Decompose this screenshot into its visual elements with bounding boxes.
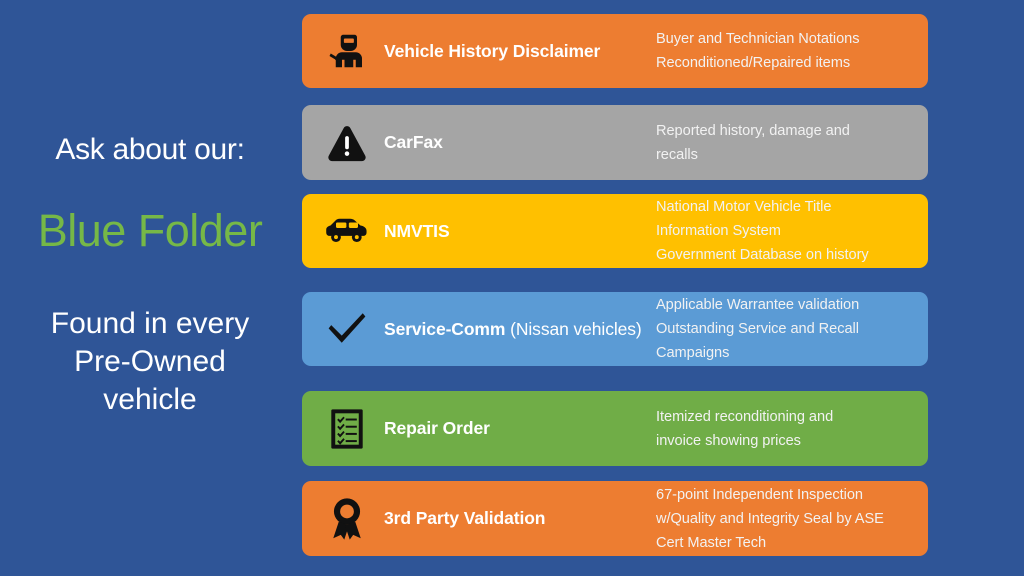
bar-description-line: Reported history, damage and — [656, 119, 928, 143]
document-checklist: Vehicle History DisclaimerBuyer and Tech… — [302, 0, 928, 576]
bar-title-carfax: CarFax — [384, 132, 656, 152]
bar-description-line: 67-point Independent Inspection — [656, 483, 928, 507]
bar-title-repair-order: Repair Order — [384, 418, 656, 438]
checkmark-icon — [326, 311, 368, 347]
warning-triangle-icon — [327, 124, 367, 162]
bar-description-line: Outstanding Service and Recall — [656, 317, 928, 341]
bar-description-line: Applicable Warrantee validation — [656, 293, 928, 317]
warning-triangle-icon — [302, 105, 384, 180]
bar-description-line: invoice showing prices — [656, 429, 928, 453]
bar-description-line: Campaigns — [656, 341, 928, 365]
bar-description-line: recalls — [656, 143, 928, 167]
welder-icon — [327, 31, 367, 71]
bar-title-main: Vehicle History Disclaimer — [384, 41, 600, 61]
bar-description-line: Government Database on history — [656, 243, 928, 267]
subtext-line-1: Found in every — [0, 305, 300, 343]
bar-title-main: CarFax — [384, 132, 443, 152]
bar-description-third-party-validation: 67-point Independent Inspectionw/Quality… — [656, 483, 928, 555]
subtext-line-3: vehicle — [0, 381, 300, 419]
bar-title-service-comm: Service-Comm (Nissan vehicles) — [384, 319, 656, 339]
bar-title-main: Repair Order — [384, 418, 490, 438]
bar-description-line: Reconditioned/Repaired items — [656, 51, 928, 75]
bar-description-line: Information System — [656, 219, 928, 243]
bar-row-service-comm[interactable]: Service-Comm (Nissan vehicles)Applicable… — [302, 292, 928, 366]
bar-description-service-comm: Applicable Warrantee validationOutstandi… — [656, 293, 928, 365]
bar-description-line: National Motor Vehicle Title — [656, 195, 928, 219]
checkmark-icon — [302, 292, 384, 366]
blue-folder-headline: Blue Folder — [0, 205, 300, 257]
award-ribbon-icon — [329, 497, 365, 541]
bar-description-repair-order: Itemized reconditioning andinvoice showi… — [656, 405, 928, 453]
bar-row-third-party-validation[interactable]: 3rd Party Validation67-point Independent… — [302, 481, 928, 556]
bar-row-vehicle-history-disclaimer[interactable]: Vehicle History DisclaimerBuyer and Tech… — [302, 14, 928, 88]
bar-title-nmvtis: NMVTIS — [384, 221, 656, 241]
welder-icon — [302, 14, 384, 88]
bar-description-vehicle-history-disclaimer: Buyer and Technician NotationsReconditio… — [656, 27, 928, 75]
checklist-clipboard-icon — [302, 391, 384, 466]
found-in-every-subtext: Found in every Pre-Owned vehicle — [0, 305, 300, 419]
bar-description-line: Itemized reconditioning and — [656, 405, 928, 429]
bar-title-main: Service-Comm — [384, 319, 505, 339]
bar-title-vehicle-history-disclaimer: Vehicle History Disclaimer — [384, 41, 656, 61]
bar-description-line: Buyer and Technician Notations — [656, 27, 928, 51]
bar-description-line: Cert Master Tech — [656, 531, 928, 555]
bar-row-repair-order[interactable]: Repair OrderItemized reconditioning andi… — [302, 391, 928, 466]
car-icon — [325, 217, 369, 245]
ask-about-label: Ask about our: — [0, 133, 300, 167]
subtext-line-2: Pre-Owned — [0, 343, 300, 381]
bar-title-suffix: (Nissan vehicles) — [510, 319, 642, 339]
bar-title-main: 3rd Party Validation — [384, 508, 545, 528]
bar-row-nmvtis[interactable]: NMVTISNational Motor Vehicle TitleInform… — [302, 194, 928, 268]
bar-title-third-party-validation: 3rd Party Validation — [384, 508, 656, 528]
bar-description-nmvtis: National Motor Vehicle TitleInformation … — [656, 195, 928, 267]
checklist-clipboard-icon — [330, 408, 364, 450]
bar-row-carfax[interactable]: CarFaxReported history, damage andrecall… — [302, 105, 928, 180]
bar-description-carfax: Reported history, damage andrecalls — [656, 119, 928, 167]
car-icon — [302, 194, 384, 268]
bar-title-main: NMVTIS — [384, 221, 450, 241]
bar-description-line: w/Quality and Integrity Seal by ASE — [656, 507, 928, 531]
award-ribbon-icon — [302, 481, 384, 556]
left-intro-panel: Ask about our: Blue Folder Found in ever… — [0, 0, 300, 576]
